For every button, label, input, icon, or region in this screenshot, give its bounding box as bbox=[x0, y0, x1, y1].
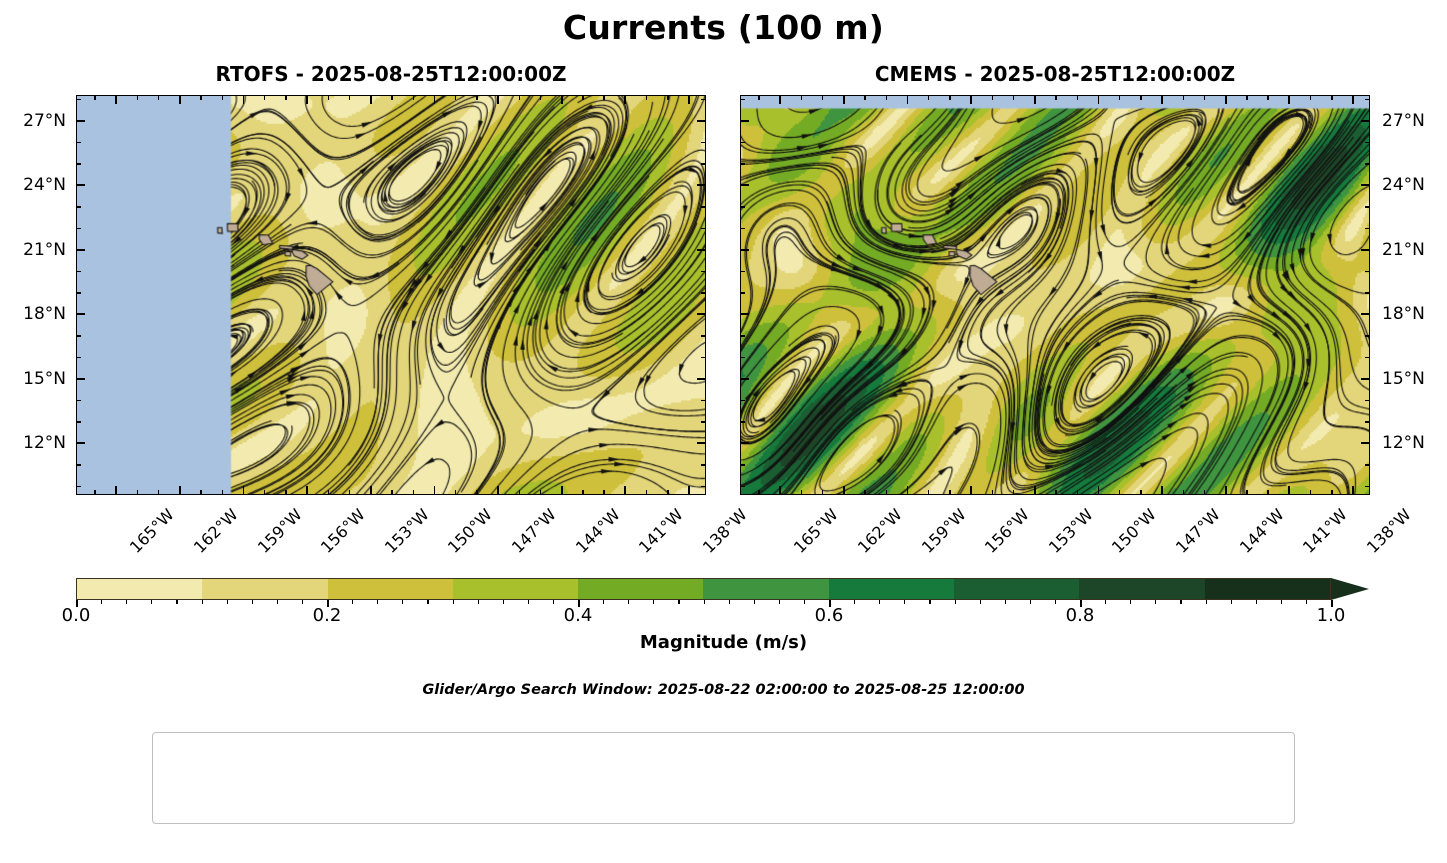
colorbar-tick bbox=[678, 600, 679, 604]
lon-tick-minor bbox=[667, 95, 668, 100]
lon-tick-minor bbox=[758, 95, 759, 100]
colorbar-tick bbox=[453, 600, 454, 604]
lon-tick-minor bbox=[328, 490, 329, 495]
colorbar-band-9 bbox=[1205, 579, 1330, 599]
lat-tick-label: 12°N bbox=[1382, 433, 1425, 453]
lat-tick-minor bbox=[701, 464, 706, 465]
lat-tick-minor bbox=[76, 357, 81, 358]
lon-tick-minor bbox=[801, 490, 802, 495]
lon-tick-minor bbox=[1310, 95, 1311, 100]
colorbar-band-4 bbox=[578, 579, 703, 599]
lon-tick-major bbox=[561, 95, 563, 104]
lat-tick-major bbox=[76, 249, 85, 251]
lat-tick-minor bbox=[76, 421, 81, 422]
lon-tick-major bbox=[843, 95, 845, 104]
colorbar-tick bbox=[1155, 600, 1156, 604]
lon-tick-major bbox=[179, 95, 181, 104]
lat-tick-minor bbox=[1365, 271, 1370, 272]
lat-tick-minor bbox=[701, 357, 706, 358]
colorbar-tick bbox=[277, 600, 278, 604]
lon-tick-minor bbox=[1183, 95, 1184, 100]
colorbar-tick bbox=[980, 600, 981, 604]
lon-tick-minor bbox=[413, 490, 414, 495]
colorbar-tick bbox=[503, 600, 504, 604]
lon-tick-minor bbox=[137, 490, 138, 495]
lon-tick-minor bbox=[582, 95, 583, 100]
lat-tick-major bbox=[1361, 249, 1370, 251]
lon-tick-label: 141°W bbox=[635, 505, 687, 557]
lat-tick-minor bbox=[740, 400, 745, 401]
lon-tick-minor bbox=[413, 95, 414, 100]
lon-tick-label: 159°W bbox=[917, 505, 969, 557]
colorbar-tick bbox=[427, 600, 428, 604]
lat-tick-major bbox=[76, 378, 85, 380]
lon-tick-minor bbox=[667, 490, 668, 495]
colorbar-tick-label: 0.4 bbox=[543, 605, 613, 626]
lon-tick-minor bbox=[822, 95, 823, 100]
lon-tick-major bbox=[115, 95, 117, 104]
lat-tick-minor bbox=[740, 357, 745, 358]
lon-tick-minor bbox=[886, 490, 887, 495]
colorbar-band-5 bbox=[703, 579, 828, 599]
lon-tick-major bbox=[306, 95, 308, 104]
lon-tick-minor bbox=[1013, 490, 1014, 495]
colorbar-gradient bbox=[76, 578, 1331, 600]
colorbar-band-8 bbox=[1079, 579, 1204, 599]
lon-tick-major bbox=[1225, 95, 1227, 104]
lon-tick-minor bbox=[582, 490, 583, 495]
lat-tick-minor bbox=[76, 292, 81, 293]
lon-tick-major bbox=[1161, 95, 1163, 104]
colorbar-tick bbox=[151, 600, 152, 604]
colorbar-tick bbox=[804, 600, 805, 604]
colorbar-tick bbox=[653, 600, 654, 604]
lat-tick-minor bbox=[1365, 228, 1370, 229]
lon-tick-minor bbox=[1204, 95, 1205, 100]
float-id-legend[interactable] bbox=[152, 732, 1295, 824]
lat-tick-minor bbox=[76, 335, 81, 336]
lon-tick-minor bbox=[864, 490, 865, 495]
panel-title-rtofs: RTOFS - 2025-08-25T12:00:00Z bbox=[76, 62, 706, 86]
lon-tick-major bbox=[243, 95, 245, 104]
colorbar-tick bbox=[302, 600, 303, 604]
lat-tick-major bbox=[740, 313, 749, 315]
lon-tick-minor bbox=[222, 490, 223, 495]
lon-tick-minor bbox=[1267, 490, 1268, 495]
lon-tick-minor bbox=[1055, 490, 1056, 495]
lat-tick-minor bbox=[740, 163, 745, 164]
lat-tick-minor bbox=[740, 292, 745, 293]
lat-tick-minor bbox=[701, 228, 706, 229]
colorbar-band-2 bbox=[328, 579, 453, 599]
lat-tick-minor bbox=[76, 228, 81, 229]
colorbar-tick bbox=[854, 600, 855, 604]
marker-layer-cmems bbox=[741, 96, 1369, 494]
lon-tick-major bbox=[497, 486, 499, 495]
lat-tick-minor bbox=[740, 99, 745, 100]
lon-tick-minor bbox=[476, 490, 477, 495]
lon-tick-minor bbox=[455, 490, 456, 495]
lon-tick-label: 144°W bbox=[1236, 505, 1288, 557]
colorbar-tick-label: 0.0 bbox=[41, 605, 111, 626]
lat-tick-minor bbox=[701, 335, 706, 336]
colorbar-tick bbox=[1206, 600, 1207, 604]
lon-tick-label: 156°W bbox=[981, 505, 1033, 557]
lat-tick-major bbox=[1361, 378, 1370, 380]
lon-tick-major bbox=[1034, 486, 1036, 495]
lon-tick-label: 138°W bbox=[699, 505, 751, 557]
lat-tick-major bbox=[1361, 442, 1370, 444]
lat-tick-major bbox=[76, 120, 85, 122]
lon-tick-minor bbox=[1077, 95, 1078, 100]
page-title: Currents (100 m) bbox=[0, 8, 1447, 47]
colorbar-tick bbox=[227, 600, 228, 604]
lon-tick-minor bbox=[476, 95, 477, 100]
lat-tick-minor bbox=[1365, 206, 1370, 207]
lat-tick-label: 21°N bbox=[1382, 240, 1425, 260]
lat-tick-minor bbox=[1365, 335, 1370, 336]
lon-tick-minor bbox=[603, 95, 604, 100]
lon-tick-major bbox=[1098, 95, 1100, 104]
lon-tick-minor bbox=[801, 95, 802, 100]
lon-tick-minor bbox=[1331, 95, 1332, 100]
lat-tick-minor bbox=[76, 206, 81, 207]
lat-tick-label: 24°N bbox=[4, 175, 66, 195]
lat-tick-major bbox=[1361, 184, 1370, 186]
lat-tick-label: 21°N bbox=[4, 240, 66, 260]
lon-tick-minor bbox=[540, 490, 541, 495]
colorbar-tick bbox=[729, 600, 730, 604]
lat-tick-major bbox=[1361, 313, 1370, 315]
lat-tick-major bbox=[697, 378, 706, 380]
lat-tick-major bbox=[76, 184, 85, 186]
lat-tick-major bbox=[740, 442, 749, 444]
lon-tick-major bbox=[1225, 486, 1227, 495]
colorbar-tick bbox=[754, 600, 755, 604]
lon-tick-minor bbox=[646, 95, 647, 100]
lat-tick-minor bbox=[1365, 163, 1370, 164]
colorbar-tick bbox=[1256, 600, 1257, 604]
lon-tick-minor bbox=[1119, 490, 1120, 495]
lon-tick-label: 141°W bbox=[1299, 505, 1351, 557]
lon-tick-minor bbox=[1246, 95, 1247, 100]
lat-tick-minor bbox=[76, 142, 81, 143]
lon-tick-minor bbox=[1013, 95, 1014, 100]
lon-tick-major bbox=[115, 486, 117, 495]
lat-tick-major bbox=[740, 249, 749, 251]
lon-tick-minor bbox=[864, 95, 865, 100]
lon-tick-minor bbox=[1183, 490, 1184, 495]
lon-tick-major bbox=[688, 95, 690, 104]
lon-tick-label: 144°W bbox=[572, 505, 624, 557]
lon-tick-minor bbox=[519, 490, 520, 495]
lat-tick-minor bbox=[701, 206, 706, 207]
colorbar-tick-label: 0.6 bbox=[794, 605, 864, 626]
lat-tick-minor bbox=[1365, 99, 1370, 100]
lon-tick-major bbox=[1288, 95, 1290, 104]
colorbar-tick bbox=[704, 600, 705, 604]
lon-tick-major bbox=[1161, 486, 1163, 495]
colorbar-tick bbox=[1231, 600, 1232, 604]
lon-tick-minor bbox=[200, 490, 201, 495]
search-window-note: Glider/Argo Search Window: 2025-08-22 02… bbox=[0, 682, 1447, 698]
lon-tick-major bbox=[624, 95, 626, 104]
colorbar-tick-label: 0.8 bbox=[1045, 605, 1115, 626]
lon-tick-minor bbox=[519, 95, 520, 100]
colorbar-tick bbox=[1130, 600, 1131, 604]
lat-tick-minor bbox=[701, 142, 706, 143]
lat-tick-minor bbox=[76, 464, 81, 465]
lat-tick-minor bbox=[1365, 421, 1370, 422]
lon-tick-minor bbox=[928, 490, 929, 495]
colorbar-tick bbox=[1105, 600, 1106, 604]
lon-tick-minor bbox=[949, 95, 950, 100]
lat-tick-major bbox=[697, 249, 706, 251]
lon-tick-major bbox=[779, 95, 781, 104]
lon-tick-minor bbox=[992, 490, 993, 495]
colorbar-tick bbox=[176, 600, 177, 604]
lat-tick-minor bbox=[1365, 357, 1370, 358]
lat-tick-minor bbox=[740, 206, 745, 207]
lon-tick-minor bbox=[758, 490, 759, 495]
lat-tick-label: 24°N bbox=[1382, 175, 1425, 195]
lon-tick-major bbox=[434, 486, 436, 495]
colorbar-tick bbox=[377, 600, 378, 604]
lat-tick-minor bbox=[740, 228, 745, 229]
lon-tick-major bbox=[561, 486, 563, 495]
colorbar-tick bbox=[553, 600, 554, 604]
lon-tick-major bbox=[843, 486, 845, 495]
lon-tick-minor bbox=[1119, 95, 1120, 100]
lon-tick-label: 150°W bbox=[1108, 505, 1160, 557]
lat-tick-major bbox=[1361, 120, 1370, 122]
lat-tick-minor bbox=[740, 335, 745, 336]
colorbar-band-6 bbox=[829, 579, 954, 599]
lon-tick-label: 162°W bbox=[190, 505, 242, 557]
lon-tick-minor bbox=[264, 95, 265, 100]
lat-tick-major bbox=[740, 120, 749, 122]
colorbar-tick bbox=[402, 600, 403, 604]
lon-tick-minor bbox=[328, 95, 329, 100]
lat-tick-minor bbox=[76, 400, 81, 401]
lat-tick-major bbox=[697, 184, 706, 186]
lat-tick-minor bbox=[740, 142, 745, 143]
lat-tick-label: 15°N bbox=[4, 369, 66, 389]
lon-tick-minor bbox=[540, 95, 541, 100]
lon-tick-minor bbox=[391, 490, 392, 495]
lon-tick-minor bbox=[886, 95, 887, 100]
lat-tick-major bbox=[740, 184, 749, 186]
lon-tick-major bbox=[370, 95, 372, 104]
lat-tick-label: 18°N bbox=[1382, 304, 1425, 324]
lon-tick-label: 153°W bbox=[1045, 505, 1097, 557]
colorbar-tick bbox=[478, 600, 479, 604]
lon-tick-major bbox=[1034, 95, 1036, 104]
panel-title-cmems: CMEMS - 2025-08-25T12:00:00Z bbox=[740, 62, 1370, 86]
colorbar-tick bbox=[252, 600, 253, 604]
lon-tick-major bbox=[1288, 486, 1290, 495]
lat-tick-minor bbox=[740, 271, 745, 272]
lat-tick-minor bbox=[740, 464, 745, 465]
lon-tick-label: 162°W bbox=[854, 505, 906, 557]
colorbar-tick bbox=[904, 600, 905, 604]
lon-tick-major bbox=[1352, 95, 1354, 104]
lon-tick-label: 165°W bbox=[790, 505, 842, 557]
lon-tick-major bbox=[179, 486, 181, 495]
lon-tick-major bbox=[779, 486, 781, 495]
lat-tick-minor bbox=[701, 486, 706, 487]
lon-tick-minor bbox=[1246, 490, 1247, 495]
lon-tick-minor bbox=[94, 95, 95, 100]
lat-tick-major bbox=[697, 120, 706, 122]
lat-tick-minor bbox=[740, 486, 745, 487]
lon-tick-major bbox=[970, 95, 972, 104]
lon-tick-minor bbox=[949, 490, 950, 495]
lat-tick-label: 15°N bbox=[1382, 369, 1425, 389]
colorbar-tick bbox=[528, 600, 529, 604]
lon-tick-minor bbox=[822, 490, 823, 495]
colorbar-label: Magnitude (m/s) bbox=[0, 632, 1447, 653]
lat-tick-major bbox=[697, 442, 706, 444]
colorbar-tick bbox=[126, 600, 127, 604]
lon-tick-minor bbox=[158, 490, 159, 495]
lon-tick-label: 159°W bbox=[253, 505, 305, 557]
lon-tick-minor bbox=[928, 95, 929, 100]
lon-tick-minor bbox=[1310, 490, 1311, 495]
lon-tick-minor bbox=[349, 490, 350, 495]
lon-tick-minor bbox=[1077, 490, 1078, 495]
marker-layer-rtofs bbox=[77, 96, 705, 494]
colorbar-tick bbox=[879, 600, 880, 604]
lat-tick-minor bbox=[1365, 142, 1370, 143]
lon-tick-major bbox=[907, 486, 909, 495]
lon-tick-minor bbox=[391, 95, 392, 100]
lat-tick-label: 12°N bbox=[4, 433, 66, 453]
lon-tick-minor bbox=[349, 95, 350, 100]
lat-tick-minor bbox=[701, 421, 706, 422]
colorbar-tick-label: 0.2 bbox=[292, 605, 362, 626]
lon-tick-minor bbox=[646, 490, 647, 495]
lon-tick-label: 150°W bbox=[444, 505, 496, 557]
lat-tick-minor bbox=[701, 163, 706, 164]
map-panel-cmems[interactable] bbox=[740, 95, 1370, 495]
lat-tick-minor bbox=[1365, 464, 1370, 465]
lon-tick-label: 156°W bbox=[317, 505, 369, 557]
colorbar-tick bbox=[1306, 600, 1307, 604]
lon-tick-minor bbox=[1204, 490, 1205, 495]
lat-tick-minor bbox=[740, 421, 745, 422]
lon-tick-minor bbox=[1140, 95, 1141, 100]
lon-tick-label: 147°W bbox=[508, 505, 560, 557]
lon-tick-major bbox=[497, 95, 499, 104]
colorbar-tick bbox=[628, 600, 629, 604]
lat-tick-minor bbox=[76, 163, 81, 164]
colorbar-tick bbox=[101, 600, 102, 604]
lon-tick-label: 153°W bbox=[381, 505, 433, 557]
lon-tick-major bbox=[243, 486, 245, 495]
lon-tick-minor bbox=[264, 490, 265, 495]
lat-tick-minor bbox=[701, 400, 706, 401]
colorbar bbox=[76, 578, 1370, 600]
lat-tick-major bbox=[76, 313, 85, 315]
lon-tick-minor bbox=[1140, 490, 1141, 495]
lat-tick-minor bbox=[701, 99, 706, 100]
lon-tick-minor bbox=[992, 95, 993, 100]
lon-tick-minor bbox=[285, 95, 286, 100]
lon-tick-major bbox=[907, 95, 909, 104]
lon-tick-major bbox=[624, 486, 626, 495]
colorbar-tick bbox=[1281, 600, 1282, 604]
lat-tick-minor bbox=[76, 486, 81, 487]
colorbar-tick bbox=[779, 600, 780, 604]
lon-tick-label: 165°W bbox=[126, 505, 178, 557]
lon-tick-major bbox=[1352, 486, 1354, 495]
colorbar-tick-label: 1.0 bbox=[1296, 605, 1366, 626]
colorbar-tick bbox=[955, 600, 956, 604]
lat-tick-major bbox=[740, 378, 749, 380]
lon-tick-major bbox=[688, 486, 690, 495]
lon-tick-major bbox=[370, 486, 372, 495]
lat-tick-label: 27°N bbox=[1382, 111, 1425, 131]
lat-tick-minor bbox=[701, 271, 706, 272]
colorbar-band-3 bbox=[453, 579, 578, 599]
lon-tick-major bbox=[306, 486, 308, 495]
colorbar-tick bbox=[352, 600, 353, 604]
lat-tick-minor bbox=[1365, 292, 1370, 293]
colorbar-tick bbox=[1055, 600, 1056, 604]
lat-tick-minor bbox=[1365, 486, 1370, 487]
lon-tick-minor bbox=[1331, 490, 1332, 495]
colorbar-tick bbox=[1180, 600, 1181, 604]
lon-tick-minor bbox=[1055, 95, 1056, 100]
colorbar-band-1 bbox=[202, 579, 327, 599]
colorbar-tick bbox=[1030, 600, 1031, 604]
lon-tick-minor bbox=[455, 95, 456, 100]
lat-tick-minor bbox=[76, 271, 81, 272]
lon-tick-minor bbox=[158, 95, 159, 100]
colorbar-extend-arrow bbox=[1331, 578, 1369, 600]
lat-tick-minor bbox=[701, 292, 706, 293]
lon-tick-minor bbox=[94, 490, 95, 495]
colorbar-tick bbox=[1005, 600, 1006, 604]
lon-tick-major bbox=[1098, 486, 1100, 495]
lon-tick-minor bbox=[222, 95, 223, 100]
lon-tick-minor bbox=[200, 95, 201, 100]
lon-tick-major bbox=[970, 486, 972, 495]
lat-tick-major bbox=[76, 442, 85, 444]
lat-tick-minor bbox=[76, 99, 81, 100]
lat-tick-label: 18°N bbox=[4, 304, 66, 324]
lat-tick-label: 27°N bbox=[4, 111, 66, 131]
colorbar-band-0 bbox=[77, 579, 202, 599]
colorbar-band-7 bbox=[954, 579, 1079, 599]
lon-tick-minor bbox=[1267, 95, 1268, 100]
lon-tick-minor bbox=[603, 490, 604, 495]
colorbar-tick bbox=[929, 600, 930, 604]
lat-tick-minor bbox=[1365, 400, 1370, 401]
colorbar-tick bbox=[603, 600, 604, 604]
map-panel-rtofs[interactable] bbox=[76, 95, 706, 495]
lon-tick-minor bbox=[137, 95, 138, 100]
lon-tick-minor bbox=[285, 490, 286, 495]
lon-tick-label: 147°W bbox=[1172, 505, 1224, 557]
lat-tick-major bbox=[697, 313, 706, 315]
lon-tick-label: 138°W bbox=[1363, 505, 1415, 557]
colorbar-tick bbox=[202, 600, 203, 604]
lon-tick-major bbox=[434, 95, 436, 104]
